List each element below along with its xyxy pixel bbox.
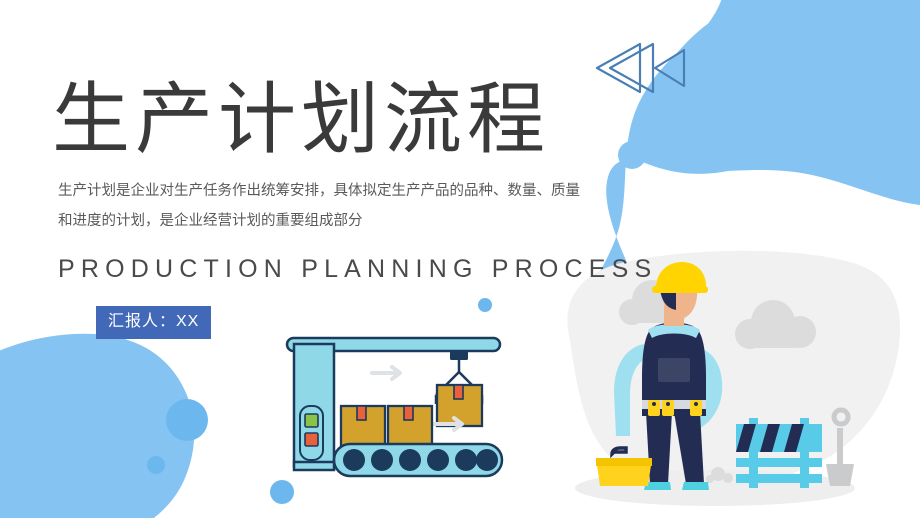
presenter-badge: 汇报人：XX xyxy=(96,306,211,339)
subtitle-line-1: 生产计划是企业对生产任务作出统筹安排，具体拟定生产产品的品种、数量、质量 xyxy=(58,176,578,206)
english-subtitle: PRODUCTION PLANNING PROCESS xyxy=(58,253,657,285)
subtitle-paragraph: 生产计划是企业对生产任务作出统筹安排，具体拟定生产产品的品种、数量、质量 和进度… xyxy=(58,176,578,236)
subtitle-line-2: 和进度的计划，是企业经营计划的重要组成部分 xyxy=(58,206,578,236)
page-title: 生产计划流程 xyxy=(52,72,550,168)
slide-canvas: 生产计划流程 生产计划是企业对生产任务作出统筹安排，具体拟定生产产品的品种、数量… xyxy=(0,0,920,518)
text-layer: 生产计划流程 生产计划是企业对生产任务作出统筹安排，具体拟定生产产品的品种、数量… xyxy=(0,0,920,518)
